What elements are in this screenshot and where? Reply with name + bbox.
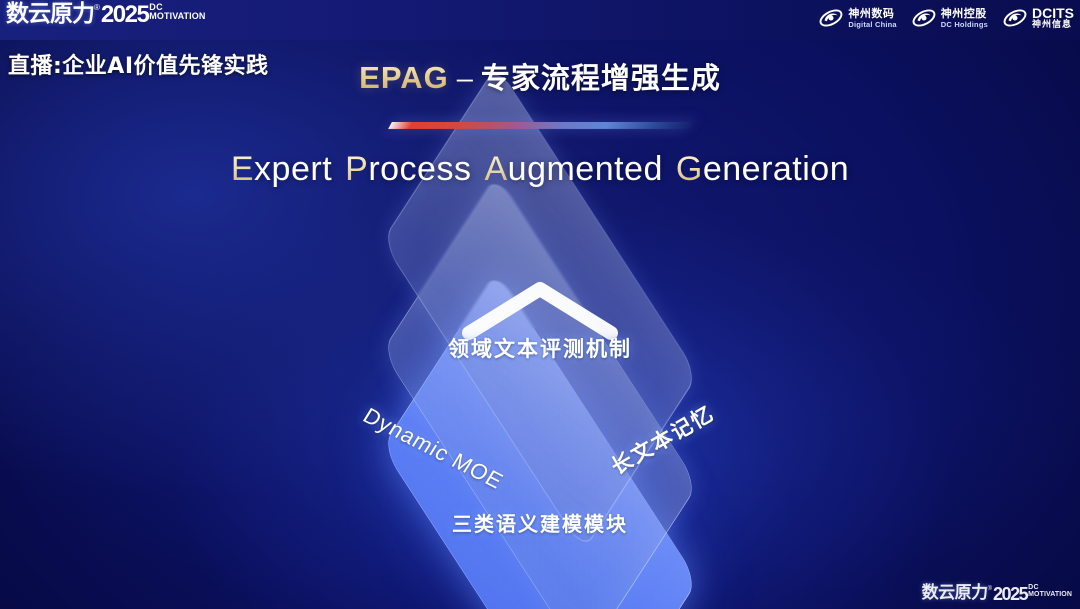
subtitle-word-augmented: Augmented xyxy=(484,150,662,188)
partner-name-cn: 神州信息 xyxy=(1032,20,1074,31)
chevron-up-icon xyxy=(459,277,621,348)
partner-name-en: DC Holdings xyxy=(941,20,988,29)
event-logo-cn: 数云原力 xyxy=(6,3,94,26)
subtitle-rest: xpert xyxy=(254,150,332,188)
subtitle-word-expert: Expert xyxy=(231,150,332,188)
partner-logo-digital-china: 神州数码 Digital China xyxy=(818,5,896,31)
subtitle-initial: A xyxy=(484,150,507,188)
subtitle-rest: rocess xyxy=(368,150,471,188)
event-logo-dc-motivation: DC MOTIVATION xyxy=(149,3,205,21)
partner-name-en: Digital China xyxy=(848,20,896,29)
event-logo-motivation: MOTIVATION xyxy=(149,11,205,21)
event-logo: 数云原力 ® 2025 DC MOTIVATION xyxy=(6,3,205,27)
partner-logo-dcits: DCITS 神州信息 xyxy=(1002,5,1074,31)
partner-logo-text: DCITS 神州信息 xyxy=(1032,6,1074,31)
subtitle-word-generation: Generation xyxy=(676,150,849,188)
watermark-cn: 数云原力 xyxy=(922,585,988,602)
live-broadcast-title: 直播:企业AI价值先锋实践 xyxy=(8,48,269,80)
partner-logos: 神州数码 Digital China 神州控股 DC Holdings xyxy=(818,5,1074,31)
title-dash: – xyxy=(457,63,473,95)
page-subtitle: ExpertProcessAugmentedGeneration xyxy=(0,150,1080,189)
subtitle-rest: eneration xyxy=(703,150,849,188)
subtitle-rest: ugmented xyxy=(508,150,663,188)
partner-name-cn: 神州控股 xyxy=(941,8,988,20)
partner-name-en: DCITS xyxy=(1032,6,1074,20)
event-logo-year: 2025 xyxy=(101,3,148,27)
gradient-divider xyxy=(388,122,692,129)
subtitle-initial: E xyxy=(231,150,254,188)
watermark-registered: ® xyxy=(988,586,992,592)
title-acronym: EPAG xyxy=(359,60,449,95)
partner-name-cn: 神州数码 xyxy=(848,8,896,20)
subtitle-word-process: Process xyxy=(345,150,471,188)
subtitle-initial: P xyxy=(345,150,368,188)
title-chinese: 专家流程增强生成 xyxy=(481,61,721,95)
event-logo-registered: ® xyxy=(94,4,100,12)
watermark-year: 2025 xyxy=(993,585,1027,603)
partner-logo-text: 神州数码 Digital China xyxy=(848,8,896,29)
slide-canvas: 数云原力 ® 2025 DC MOTIVATION 直播:企业AI价值先锋实践 … xyxy=(0,0,1080,609)
swirl-icon xyxy=(1002,5,1028,31)
event-logo-dc: DC xyxy=(149,3,205,11)
subtitle-initial: G xyxy=(676,150,703,188)
footer-watermark: 数云原力 ® 2025 DC MOTIVATION xyxy=(922,585,1072,603)
watermark-motivation: MOTIVATION xyxy=(1028,591,1072,599)
swirl-icon xyxy=(911,5,937,31)
partner-logo-text: 神州控股 DC Holdings xyxy=(941,8,988,29)
partner-logo-dc-holdings: 神州控股 DC Holdings xyxy=(911,5,988,31)
swirl-icon xyxy=(818,5,844,31)
watermark-dc-motivation: DC MOTIVATION xyxy=(1028,585,1072,599)
